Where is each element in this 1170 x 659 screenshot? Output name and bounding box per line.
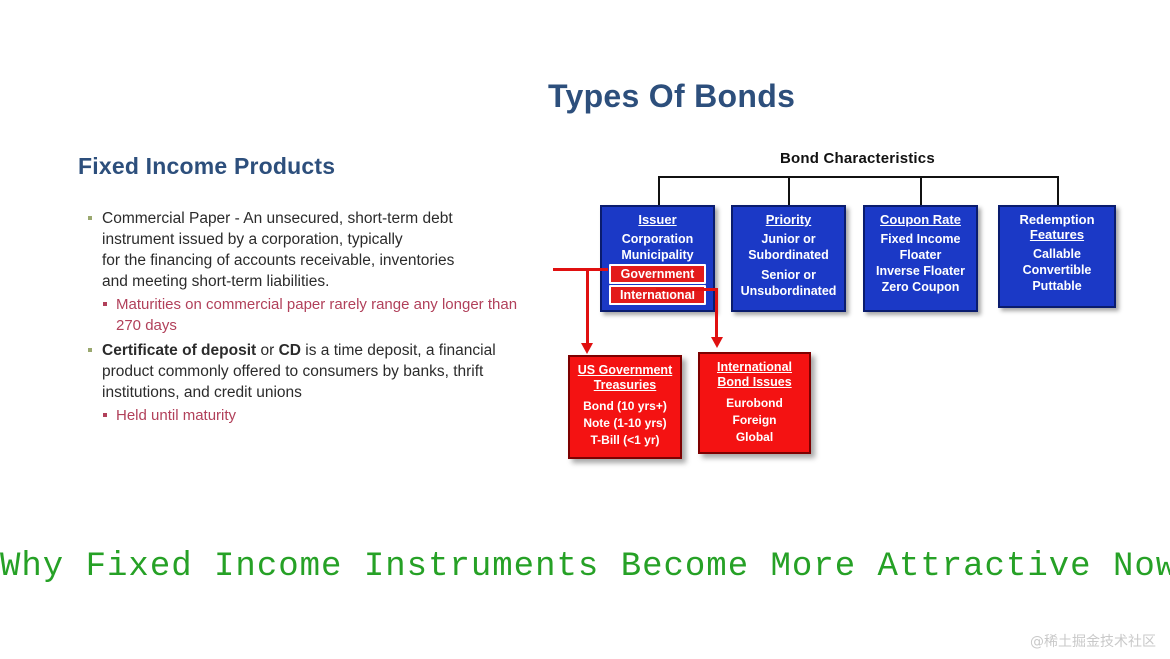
intl-header-line2: Bond Issues — [717, 375, 791, 389]
connector-horizontal-bracket — [658, 176, 1058, 178]
diagram-box-redemption-features: Redemption Features Callable Convertible… — [998, 205, 1116, 308]
box-header-redemption-line1: Redemption — [1002, 212, 1112, 227]
treasuries-header-line2: Treasuries — [594, 378, 657, 392]
cd-abbrev-bold: CD — [279, 342, 301, 359]
priority-item-senior: Senior or — [735, 267, 842, 283]
coupon-item-fixed-income: Fixed Income — [867, 231, 974, 247]
treasuries-item-bond: Bond (10 yrs+) — [572, 398, 678, 415]
diagram-box-issuer: Issuer Corporation Municipality Governme… — [600, 205, 715, 312]
page-title: Types Of Bonds — [548, 78, 848, 115]
box-header-priority: Priority — [735, 212, 842, 227]
treasuries-header: US GovernmentTreasuries — [572, 363, 678, 393]
arrow-international-horizontal — [656, 288, 718, 291]
arrowhead-government — [581, 343, 593, 354]
bullet-line: for the financing of accounts receivable… — [102, 250, 546, 271]
bottom-banner-text: Why Fixed Income Instruments Become More… — [0, 548, 1170, 586]
watermark: @稀土掘金技术社区 — [1030, 631, 1156, 651]
fixed-income-bullet-list: Commercial Paper - An unsecured, short-t… — [86, 208, 546, 426]
intl-item-foreign: Foreign — [702, 412, 807, 429]
redemption-item-puttable: Puttable — [1002, 278, 1112, 294]
subbullet-held-until-maturity: Held until maturity — [102, 405, 546, 426]
connector-drop-coupon-rate — [920, 176, 922, 205]
treasuries-item-note: Note (1-10 yrs) — [572, 415, 678, 432]
treasuries-header-line1: US Government — [572, 363, 678, 378]
intl-header-line1: International — [702, 360, 807, 375]
bullet-line: instrument issued by a corporation, typi… — [102, 229, 546, 250]
coupon-item-zero-coupon: Zero Coupon — [867, 279, 974, 295]
cd-term-bold: Certificate of deposit — [102, 342, 256, 359]
arrow-international-vertical — [715, 288, 718, 340]
coupon-item-floater: Floater — [867, 247, 974, 263]
subbullet-maturities: Maturities on commercial paper rarely ra… — [102, 294, 546, 336]
bullet-line: Commercial Paper - An unsecured, short-t… — [102, 208, 546, 229]
bullet-line: and meeting short-term liabilities. — [102, 271, 546, 292]
diagram-box-international-bond-issues: InternationalBond Issues Eurobond Foreig… — [698, 352, 811, 454]
box-header-coupon-rate: Coupon Rate — [867, 212, 974, 227]
diagram-box-priority: Priority Junior or Subordinated Senior o… — [731, 205, 846, 312]
issuer-item-corporation: Corporation — [604, 231, 711, 247]
slide-root: Types Of Bonds Fixed Income Products Com… — [0, 0, 1170, 659]
intl-header: InternationalBond Issues — [702, 360, 807, 390]
diagram-box-us-government-treasuries: US GovernmentTreasuries Bond (10 yrs+) N… — [568, 355, 682, 459]
treasuries-item-tbill: T-Bill (<1 yr) — [572, 432, 678, 449]
issuer-item-government-highlighted: Government — [609, 264, 706, 284]
arrow-government-vertical — [586, 268, 589, 346]
redemption-item-callable: Callable — [1002, 246, 1112, 262]
connector-drop-redemption — [1057, 176, 1059, 205]
priority-item-subordinated: Subordinated — [735, 247, 842, 263]
diagram-title: Bond Characteristics — [780, 150, 935, 167]
intl-item-eurobond: Eurobond — [702, 395, 807, 412]
intl-item-global: Global — [702, 429, 807, 446]
bullet-certificate-of-deposit: Certificate of deposit or CD is a time d… — [86, 340, 546, 403]
bond-characteristics-diagram: Bond Characteristics Issuer Corporation … — [548, 140, 1148, 480]
priority-item-unsubordinated: Unsubordinated — [735, 283, 842, 299]
cd-conjunction: or — [256, 342, 278, 359]
diagram-box-coupon-rate: Coupon Rate Fixed Income Floater Inverse… — [863, 205, 978, 312]
arrowhead-international — [711, 337, 723, 348]
coupon-item-inverse-floater: Inverse Floater — [867, 263, 974, 279]
issuer-item-municipality: Municipality — [604, 247, 711, 263]
box-header-issuer: Issuer — [604, 212, 711, 227]
redemption-item-convertible: Convertible — [1002, 262, 1112, 278]
connector-drop-issuer — [658, 176, 660, 205]
connector-drop-priority — [788, 176, 790, 205]
box-header-redemption-line2: Features — [1002, 227, 1112, 242]
bullet-commercial-paper: Commercial Paper - An unsecured, short-t… — [86, 208, 546, 292]
left-section-heading: Fixed Income Products — [78, 153, 335, 180]
arrow-government-horizontal — [553, 268, 608, 271]
priority-item-junior: Junior or — [735, 231, 842, 247]
